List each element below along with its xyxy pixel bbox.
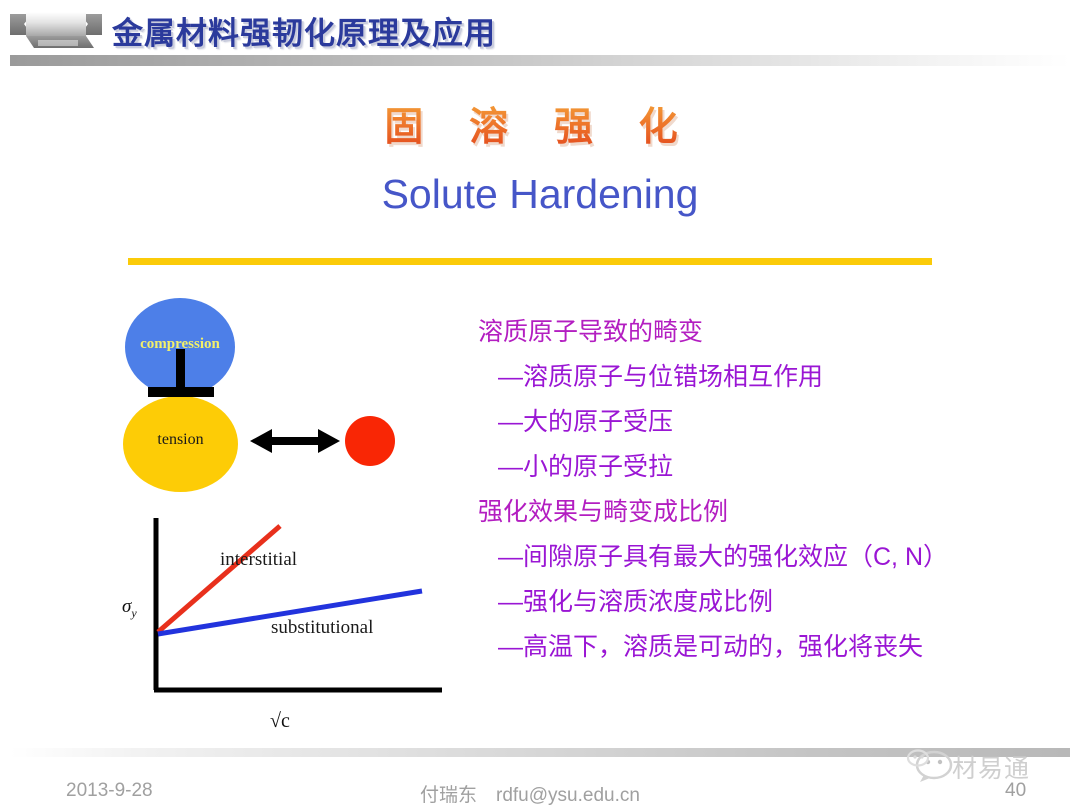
list-item: —小的原子受拉 <box>478 447 1058 483</box>
dislocation-slip-plane-icon <box>148 387 214 397</box>
footer-date: 2013-9-28 <box>66 780 153 802</box>
list-item: 溶质原子导致的畸变 <box>478 312 1058 348</box>
list-item: 强化效果与畸变成比例 <box>478 492 1058 528</box>
header-divider <box>10 55 1070 66</box>
bullet-list: 溶质原子导致的畸变 —溶质原子与位错场相互作用 —大的原子受压 —小的原子受拉 … <box>478 312 1058 672</box>
list-item: —间隙原子具有最大的强化效应（C, N） <box>478 537 1058 573</box>
chart-x-axis-label: √c <box>270 710 290 733</box>
chinese-title: 固 溶 强 化 <box>0 96 1080 152</box>
solute-atom-circle <box>345 416 395 466</box>
double-headed-arrow-icon <box>250 425 340 457</box>
list-item: —溶质原子与位错场相互作用 <box>478 357 1058 393</box>
chart-plot-area <box>130 512 470 712</box>
english-title: Solute Hardening <box>0 171 1080 218</box>
strengthening-chart: interstitial substitutional σy √c <box>130 512 470 752</box>
atom-distortion-diagram: compression tension <box>110 292 420 502</box>
list-item: —强化与溶质浓度成比例 <box>478 582 1058 618</box>
ribbon-banner-icon <box>8 10 104 52</box>
chart-annotation-interstitial: interstitial <box>220 549 297 571</box>
chart-y-axis-label: σy <box>122 596 137 621</box>
gold-divider <box>128 258 932 265</box>
tension-label: tension <box>123 431 238 449</box>
footer-author: 付瑞东 rdfu@ysu.edu.cn <box>420 780 640 807</box>
compression-label: compression <box>125 336 235 353</box>
header-title: 金属材料强韧化原理及应用 <box>112 8 496 53</box>
list-item: —高温下，溶质是可动的，强化将丧失 <box>478 627 1058 663</box>
list-item: —大的原子受压 <box>478 402 1058 438</box>
slide-canvas: 金属材料强韧化原理及应用 固 溶 强 化 固 溶 强 化 Solute Hard… <box>0 0 1080 810</box>
chart-annotation-substitutional: substitutional <box>271 617 373 639</box>
watermark-label: 材易通 <box>952 749 1030 785</box>
